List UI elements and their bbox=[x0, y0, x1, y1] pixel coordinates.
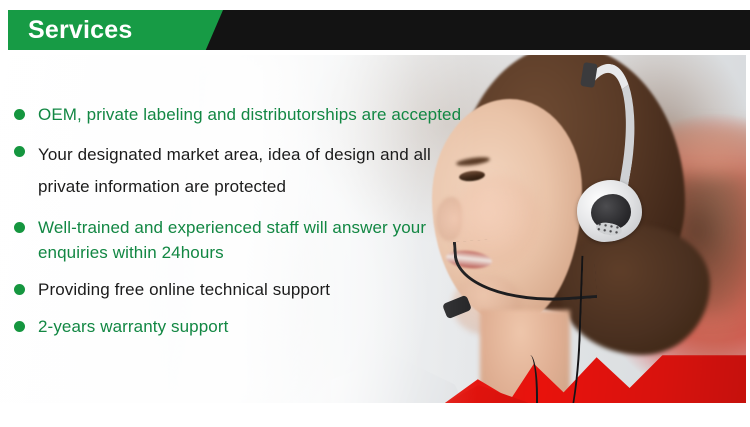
list-item: 2-years warranty support bbox=[14, 314, 484, 339]
bullet-dot-icon bbox=[14, 284, 25, 295]
services-banner: Services OEM, private bbox=[0, 0, 750, 427]
header-bar: Services bbox=[8, 10, 750, 50]
list-item: Well-trained and experienced staff will … bbox=[14, 215, 484, 265]
services-list: OEM, private labeling and distributorshi… bbox=[14, 102, 484, 351]
bullet-dot-icon bbox=[14, 321, 25, 332]
list-item-label: OEM, private labeling and distributorshi… bbox=[38, 102, 461, 127]
list-item-label: Your designated market area, idea of des… bbox=[38, 139, 484, 203]
bullet-dot-icon bbox=[14, 222, 25, 233]
page-title: Services bbox=[28, 15, 132, 45]
list-item: OEM, private labeling and distributorshi… bbox=[14, 102, 484, 127]
bullet-dot-icon bbox=[14, 146, 25, 157]
list-item-label: 2-years warranty support bbox=[38, 314, 228, 339]
list-item: Providing free online technical support bbox=[14, 277, 484, 302]
list-item: Your designated market area, idea of des… bbox=[14, 139, 484, 203]
list-item-label: Providing free online technical support bbox=[38, 277, 330, 302]
list-item-label: Well-trained and experienced staff will … bbox=[38, 215, 484, 265]
bullet-dot-icon bbox=[14, 109, 25, 120]
